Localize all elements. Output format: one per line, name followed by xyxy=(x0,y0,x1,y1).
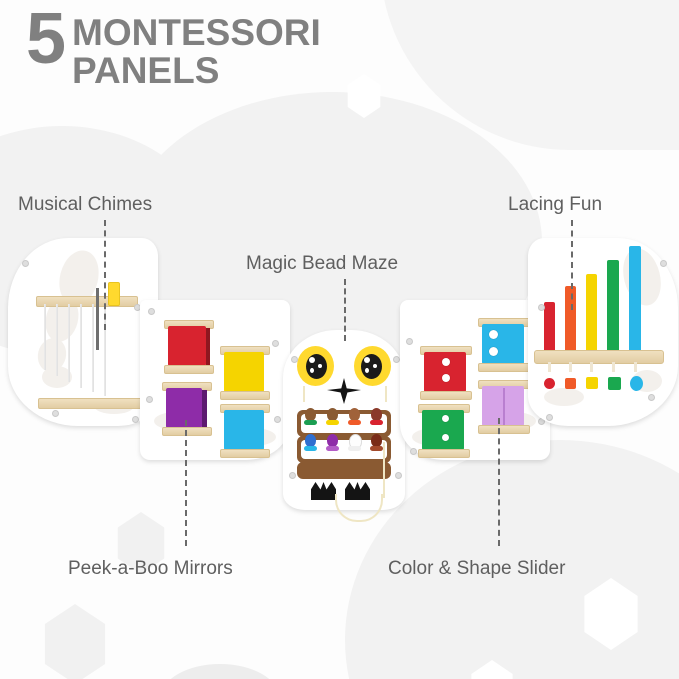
callout-label-lacing-fun: Lacing Fun xyxy=(508,194,602,216)
leader-line-musical-chimes xyxy=(104,220,106,330)
callout-layer: Musical Chimes Magic Bead Maze Lacing Fu… xyxy=(0,0,679,679)
callout-label-magic-bead-maze: Magic Bead Maze xyxy=(246,253,398,275)
leader-line-peek-a-boo xyxy=(185,420,187,546)
callout-label-peek-a-boo-mirrors: Peek-a-Boo Mirrors xyxy=(68,558,233,580)
infographic-canvas: 5 MONTESSORI PANELS xyxy=(0,0,679,679)
callout-label-color-shape-slider: Color & Shape Slider xyxy=(388,558,565,580)
leader-line-lacing-fun xyxy=(571,220,573,310)
title-line-panels: PANELS xyxy=(72,52,321,90)
title-words: MONTESSORI PANELS xyxy=(72,14,321,90)
leader-line-magic-bead-maze xyxy=(344,279,346,341)
leader-line-color-shape xyxy=(498,418,500,546)
title-line-montessori: MONTESSORI xyxy=(72,14,321,52)
page-title: 5 MONTESSORI PANELS xyxy=(26,8,321,90)
callout-label-musical-chimes: Musical Chimes xyxy=(18,194,152,216)
title-number: 5 xyxy=(26,8,64,70)
